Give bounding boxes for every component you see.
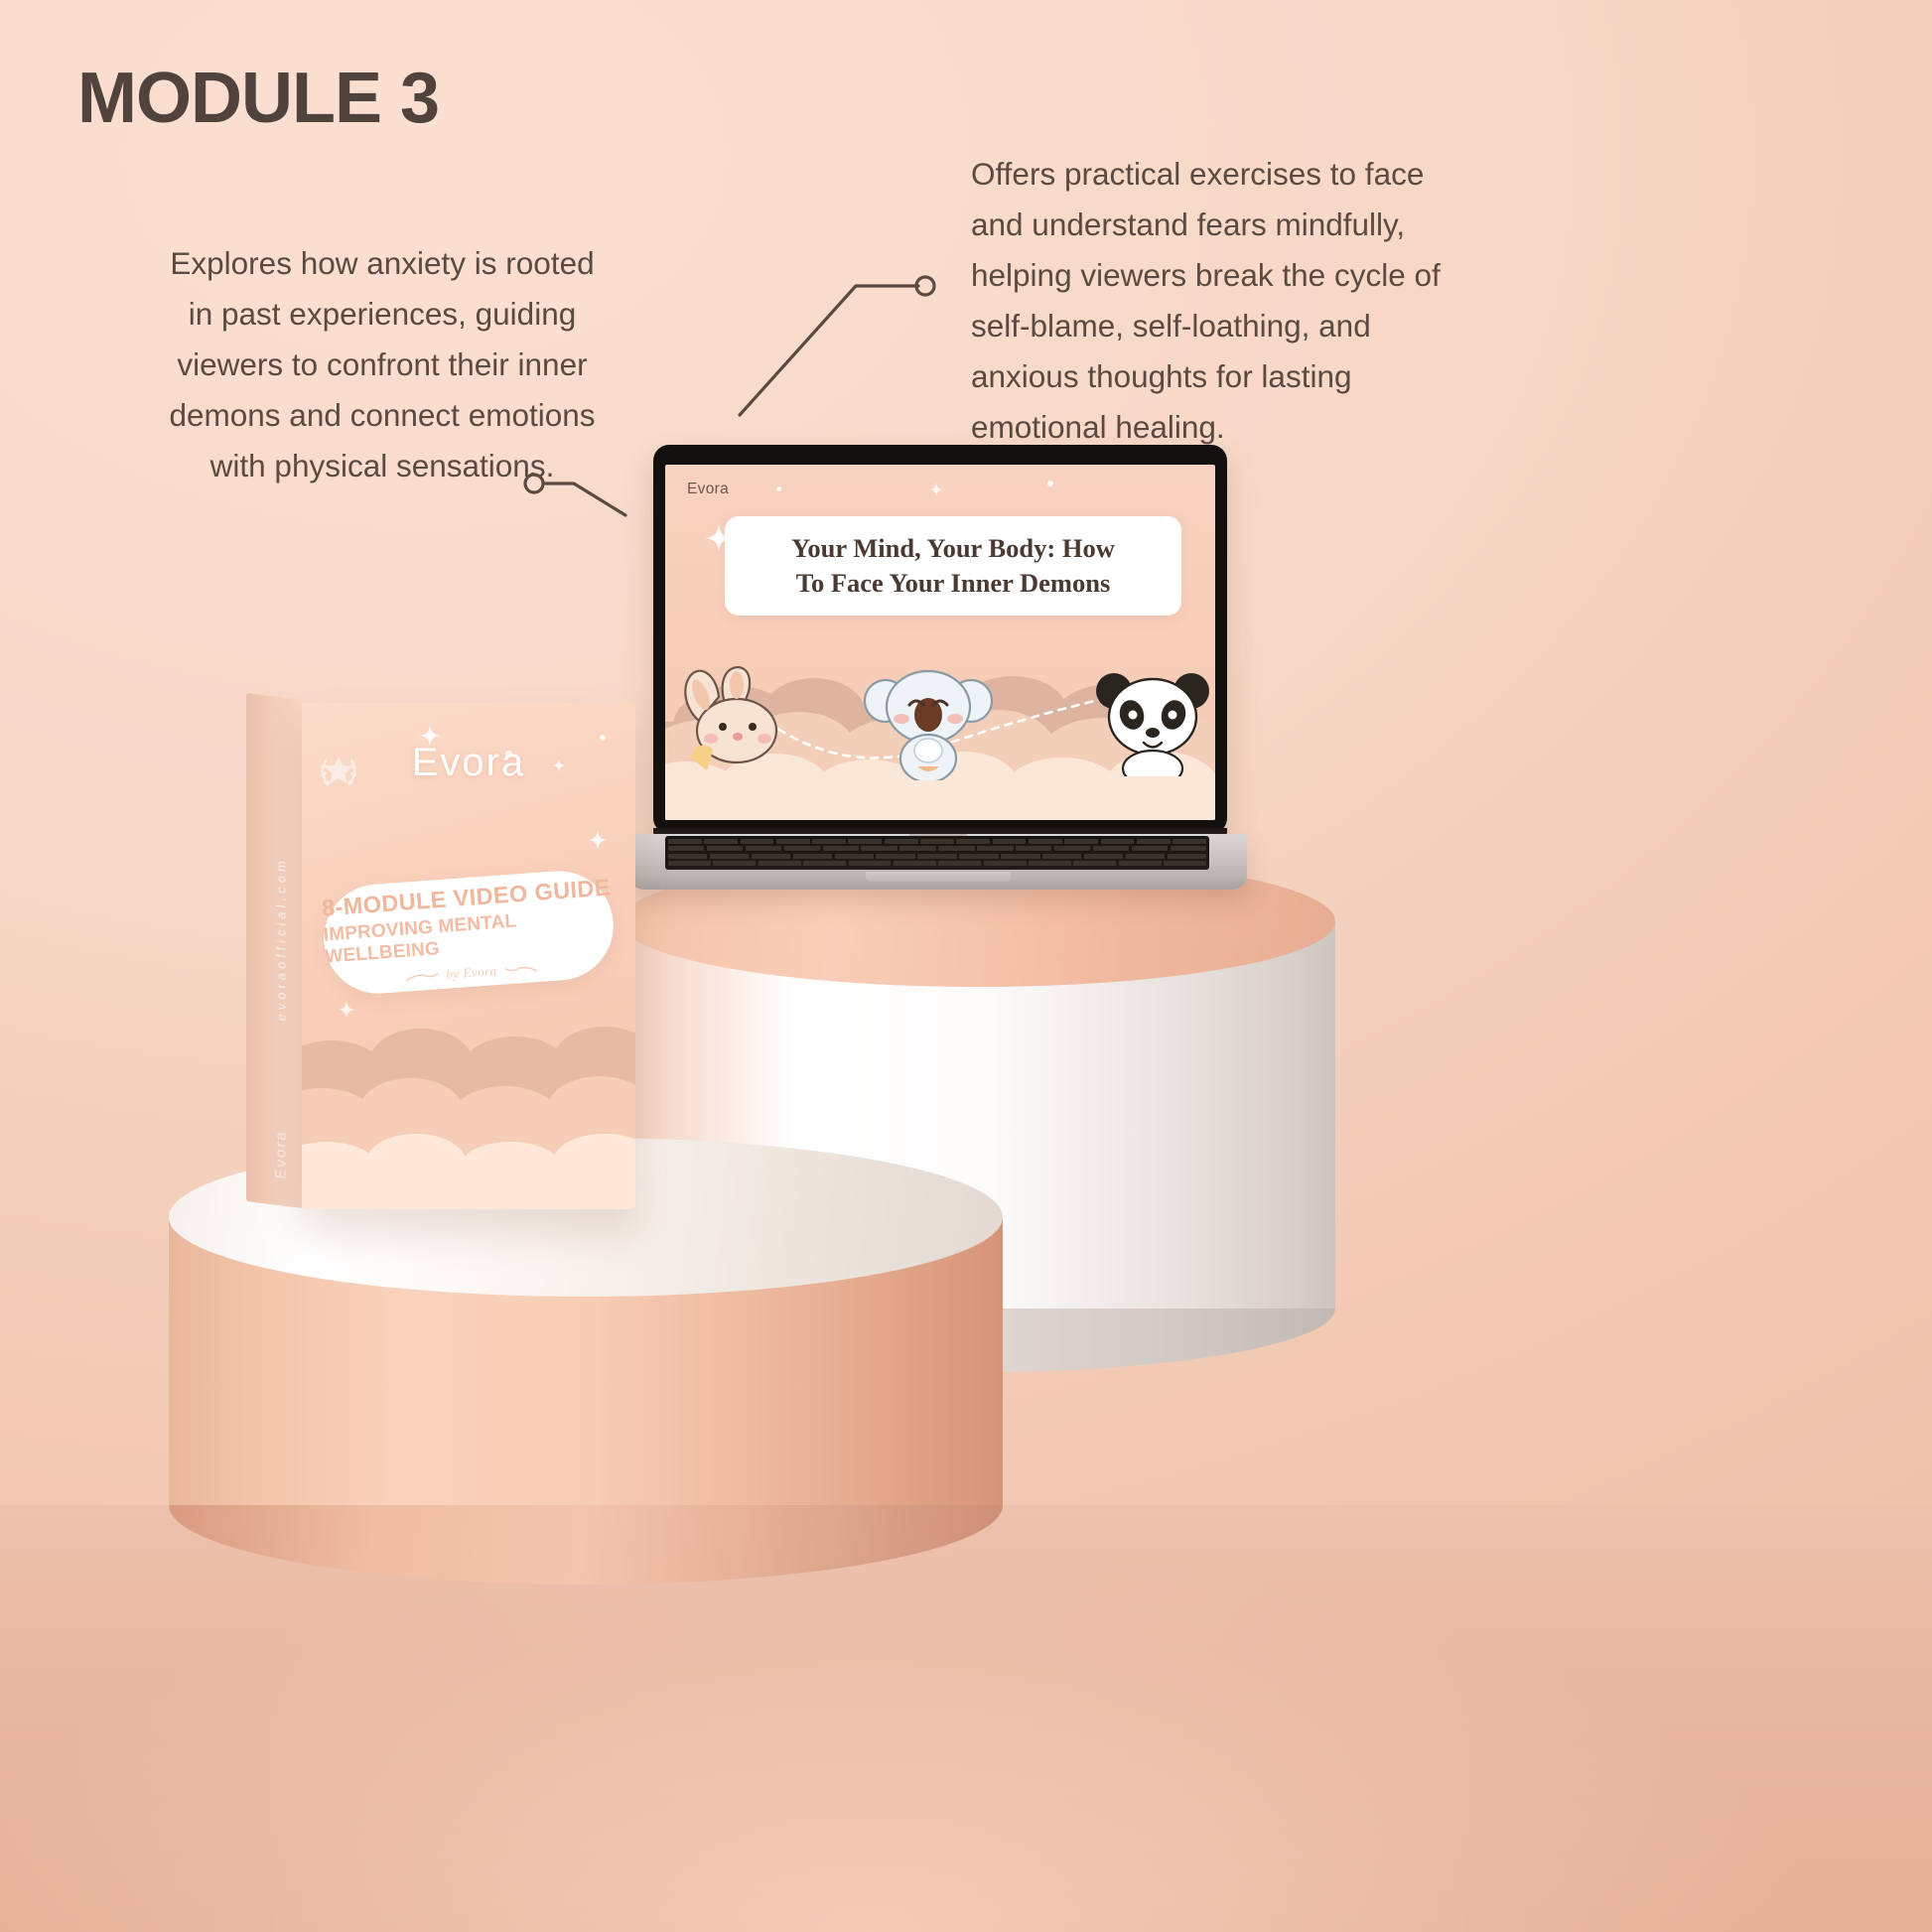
laptop-mockup: Evora Your Mind, Your Body: How To Face … — [645, 445, 1231, 892]
product-box-spine: evoraofficial.com Evora — [246, 693, 304, 1208]
laptop-trackpad — [866, 872, 1011, 882]
product-box: evoraofficial.com Evora — [246, 685, 635, 1201]
callout-right-text: Offers practical exercises to face and u… — [971, 149, 1448, 453]
sparkle-icon — [588, 830, 608, 850]
callout-left-text: Explores how anxiety is rooted in past e… — [159, 238, 606, 491]
flourish-right-icon — [503, 963, 538, 975]
screen-dot — [776, 486, 781, 491]
connector-endpoint-dot — [916, 277, 934, 295]
page-title: MODULE 3 — [77, 58, 439, 139]
sparkle-icon — [929, 483, 943, 496]
slide-title-text: Your Mind, Your Body: How To Face Your I… — [791, 531, 1115, 601]
product-box-face: Evora 8-MODULE VIDEO GUIDE IMPROVING MEN… — [302, 703, 635, 1209]
screen-dot — [1047, 481, 1053, 486]
panda-illustration — [1092, 665, 1213, 776]
laptop-screen: Evora Your Mind, Your Body: How To Face … — [665, 465, 1215, 820]
slide-title-card: Your Mind, Your Body: How To Face Your I… — [725, 516, 1181, 616]
box-spine-url: evoraofficial.com — [274, 774, 289, 1104]
sparkle-icon — [338, 1001, 355, 1019]
box-label-byline: by Evora — [446, 963, 497, 983]
koala-illustration — [864, 663, 993, 780]
laptop-keyboard — [665, 836, 1209, 870]
box-label-card: 8-MODULE VIDEO GUIDE IMPROVING MENTAL WE… — [320, 867, 617, 997]
box-label-byline-row: by Evora — [405, 960, 538, 986]
screen-brand-label: Evora — [687, 481, 729, 498]
flourish-left-icon — [405, 970, 440, 982]
laptop-lid: Evora Your Mind, Your Body: How To Face … — [653, 445, 1227, 834]
bunny-illustration — [673, 659, 800, 776]
laptop-base — [629, 834, 1247, 890]
box-spine-brand: Evora — [273, 1079, 290, 1208]
laurel-star-icon — [312, 745, 365, 798]
poster-canvas: MODULE 3 Explores how anxiety is rooted … — [0, 0, 1932, 1932]
